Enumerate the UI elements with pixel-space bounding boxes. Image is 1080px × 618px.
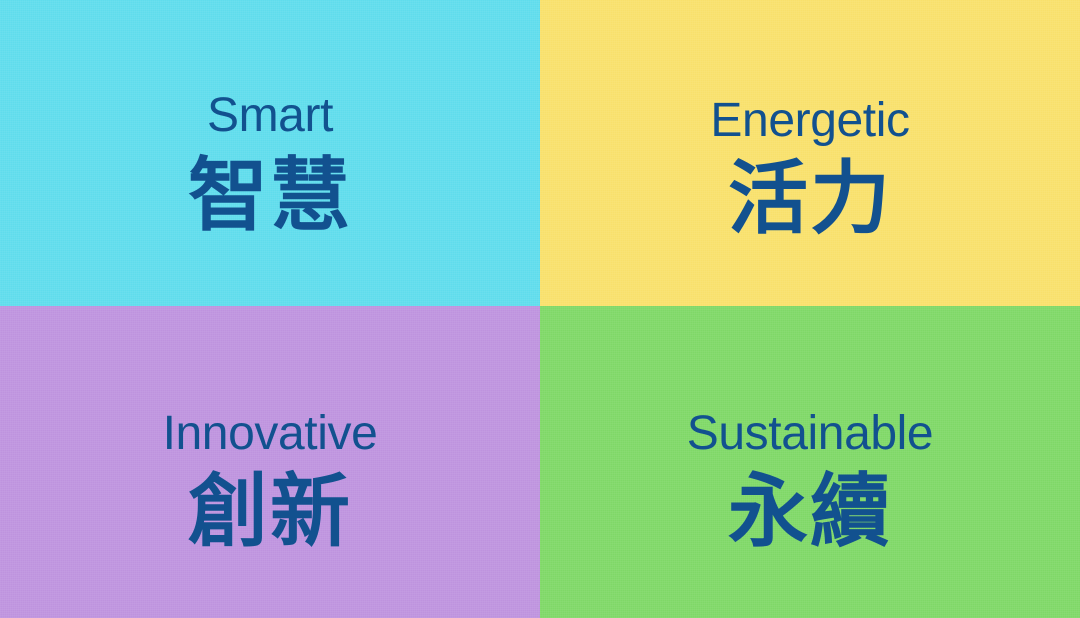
quadrant-innovative: Innovative 創新	[0, 306, 540, 618]
quadrant-smart-content: Smart 智慧	[188, 0, 352, 236]
quadrant-energetic-english-label: Energetic	[710, 97, 909, 145]
quadrant-innovative-english-label: Innovative	[163, 410, 378, 458]
quadrant-smart: Smart 智慧	[0, 0, 540, 306]
quadrant-smart-chinese-label: 智慧	[188, 156, 352, 236]
quadrant-sustainable-english-label: Sustainable	[687, 410, 933, 458]
quadrant-energetic: Energetic 活力	[540, 0, 1080, 306]
quadrant-smart-english-label: Smart	[207, 92, 333, 140]
quadrant-sustainable: Sustainable 永續	[540, 306, 1080, 618]
brand-values-poster: Smart 智慧 Energetic 活力 Innovative 創新 Sust…	[0, 0, 1080, 618]
quadrant-energetic-content: Energetic 活力	[710, 0, 909, 239]
quadrant-sustainable-chinese-label: 永續	[728, 472, 892, 552]
quadrant-innovative-chinese-label: 創新	[188, 472, 352, 552]
quadrant-sustainable-content: Sustainable 永續	[687, 306, 933, 552]
quadrant-innovative-content: Innovative 創新	[163, 306, 378, 552]
quadrant-energetic-chinese-label: 活力	[728, 159, 892, 239]
